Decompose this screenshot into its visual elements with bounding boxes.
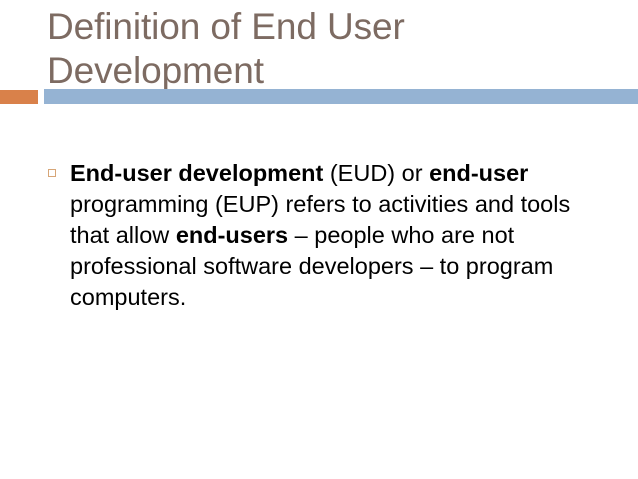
divider-accent-square [0,90,38,104]
body-content: End-user development (EUD) or end-user p… [44,158,604,313]
square-bullet-icon [48,169,56,177]
page-title: Definition of End User Development [47,5,607,93]
title-divider [0,88,638,104]
slide: Definition of End User Development End-u… [0,0,638,479]
divider-bar [44,89,638,104]
title-area: Definition of End User Development [47,5,607,93]
bullet-text: End-user development (EUD) or end-user p… [70,158,604,313]
list-item: End-user development (EUD) or end-user p… [44,158,604,313]
